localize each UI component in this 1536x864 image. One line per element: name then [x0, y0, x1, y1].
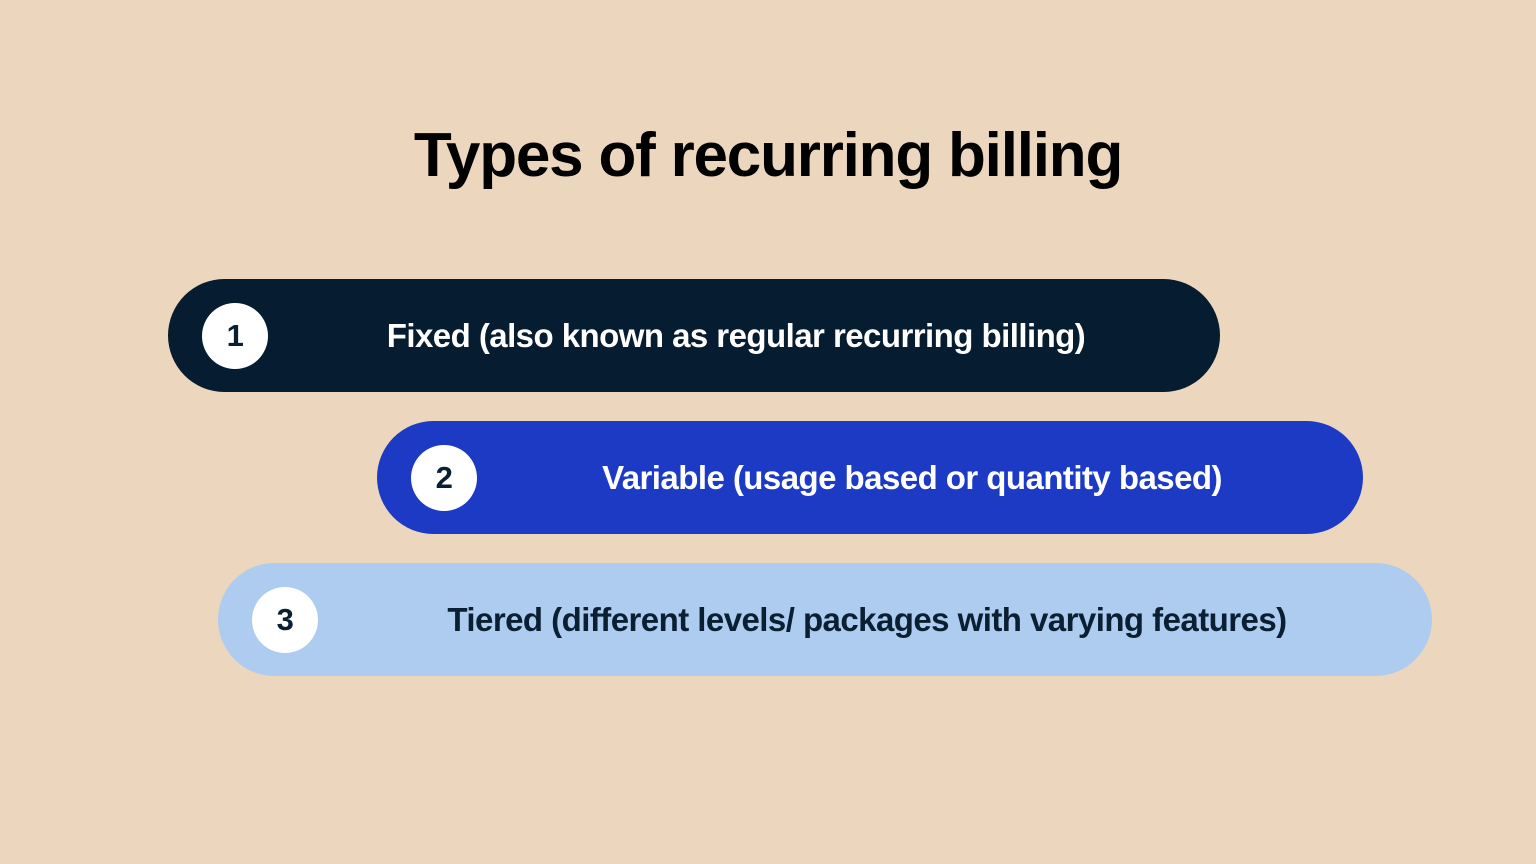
step-badge-2: 2: [411, 445, 477, 511]
billing-type-row-1: 1 Fixed (also known as regular recurring…: [168, 279, 1220, 392]
step-number-2: 2: [436, 462, 453, 493]
step-number-1: 1: [227, 320, 244, 351]
billing-type-label-2: Variable (usage based or quantity based): [485, 458, 1339, 498]
step-number-3: 3: [277, 604, 294, 635]
step-badge-1: 1: [202, 303, 268, 369]
billing-type-label-3: Tiered (different levels/ packages with …: [326, 600, 1408, 640]
infographic-canvas: Types of recurring billing 1 Fixed (also…: [0, 0, 1536, 864]
billing-type-row-3: 3 Tiered (different levels/ packages wit…: [218, 563, 1432, 676]
billing-type-row-2: 2 Variable (usage based or quantity base…: [377, 421, 1363, 534]
step-badge-3: 3: [252, 587, 318, 653]
page-title: Types of recurring billing: [0, 120, 1536, 191]
billing-type-label-1: Fixed (also known as regular recurring b…: [276, 316, 1196, 356]
